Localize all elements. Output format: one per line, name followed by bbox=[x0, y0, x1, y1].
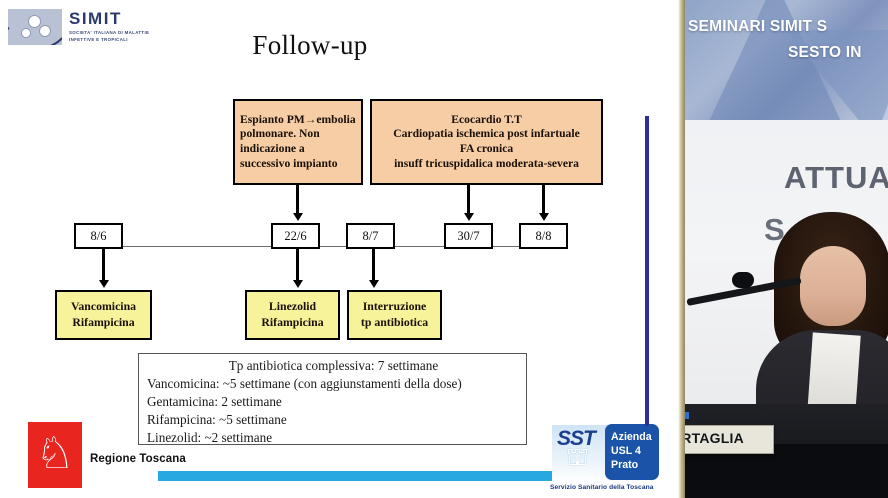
orange-box-ecocardio-line4: insuff tricuspidalica moderata-severa bbox=[377, 157, 596, 172]
summary-line-1: Vancomicina: ~5 settimane (con aggiunsta… bbox=[147, 375, 520, 393]
orange-box-espianto: Espianto PM→embolia polmonare. Non indic… bbox=[233, 99, 363, 185]
summary-line-2: Gentamicina: 2 settimane bbox=[147, 393, 520, 411]
timeline-axis bbox=[74, 246, 568, 247]
orange-box-ecocardio: Ecocardio T.T Cardiopatia ischemica post… bbox=[370, 99, 603, 185]
regione-toscana-label: Regione Toscana bbox=[90, 453, 186, 465]
azienda-usl-line2: USL 4 bbox=[611, 444, 659, 458]
summary-line-4: Linezolid: ~2 settimane bbox=[147, 429, 520, 447]
arrowhead-ecocardio-to-88 bbox=[539, 213, 549, 221]
arrowhead-espianto-to-226 bbox=[293, 213, 303, 221]
yellow-box-linezolid-line1: Linezolid bbox=[247, 299, 338, 315]
summary-heading: Tp antibiotica complessiva: 7 settimane bbox=[147, 357, 520, 375]
timeline-date-8-6: 8/6 bbox=[74, 223, 123, 249]
pegasus-icon: ♘ bbox=[35, 429, 75, 481]
yellow-box-interruzione-line1: Interruzione bbox=[349, 299, 440, 315]
yellow-box-vancomicina-line2: Rifampicina bbox=[57, 315, 150, 331]
yellow-box-vancomicina-line1: Vancomicina bbox=[57, 299, 150, 315]
azienda-usl-line3: Prato bbox=[611, 458, 659, 472]
connector-espianto-to-226 bbox=[296, 185, 299, 214]
azienda-usl-logo: Azienda USL 4 Prato bbox=[605, 424, 659, 480]
connector-86-to-vancomicina bbox=[102, 249, 105, 281]
conference-banner-line1: SEMINARI SIMIT S bbox=[688, 18, 827, 36]
arrowhead-87-to-interruzione bbox=[369, 280, 379, 288]
azienda-usl-line1: Azienda bbox=[611, 430, 659, 444]
speaker-face bbox=[800, 246, 866, 326]
screenshot-root: SIMIT SOCIETA' ITALIANA DI MALATTIE INFE… bbox=[0, 0, 888, 498]
conference-banner-line2: SESTO IN bbox=[788, 44, 862, 62]
timeline-date-8-8: 8/8 bbox=[519, 223, 568, 249]
arrowhead-86-to-vancomicina bbox=[99, 280, 109, 288]
wall-text-line1: ATTUA bbox=[784, 160, 888, 196]
footer-accent-bar bbox=[158, 471, 558, 481]
speaker-nameplate-text: ARTAGLIA bbox=[678, 430, 744, 446]
sst-logo-subtitle: Servizio Sanitario della Toscana bbox=[550, 484, 653, 491]
yellow-box-linezolid: Linezolid Rifampicina bbox=[245, 290, 340, 340]
connector-87-to-interruzione bbox=[372, 249, 375, 281]
yellow-box-interruzione: Interruzione tp antibiotica bbox=[347, 290, 442, 340]
slide-vertical-rule bbox=[645, 116, 649, 426]
connector-226-to-linezolid bbox=[296, 249, 299, 281]
speaker-nameplate: ARTAGLIA bbox=[678, 425, 774, 454]
yellow-box-vancomicina: Vancomicina Rifampicina bbox=[55, 290, 152, 340]
sst-running-figure-icon: ⛫ bbox=[566, 444, 600, 470]
yellow-box-linezolid-line2: Rifampicina bbox=[247, 315, 338, 331]
orange-box-ecocardio-line2: Cardiopatia ischemica post infartuale bbox=[377, 127, 596, 142]
connector-ecocardio-to-307 bbox=[467, 185, 470, 214]
timeline-date-8-7: 8/7 bbox=[346, 223, 395, 249]
orange-box-ecocardio-line3: FA cronica bbox=[377, 142, 596, 157]
summary-box: Tp antibiotica complessiva: 7 settimane … bbox=[138, 353, 527, 445]
arrowhead-ecocardio-to-307 bbox=[464, 213, 474, 221]
simit-logo-name: SIMIT bbox=[69, 10, 149, 27]
orange-box-espianto-text: Espianto PM→embolia polmonare. Non indic… bbox=[235, 113, 361, 172]
slide-title: Follow-up bbox=[0, 30, 620, 61]
microphone-icon bbox=[732, 272, 754, 288]
orange-box-ecocardio-line1: Ecocardio T.T bbox=[377, 113, 596, 128]
presentation-slide: SIMIT SOCIETA' ITALIANA DI MALATTIE INFE… bbox=[0, 0, 678, 498]
connector-ecocardio-to-88 bbox=[542, 185, 545, 214]
summary-line-3: Rifampicina: ~5 settimane bbox=[147, 411, 520, 429]
yellow-box-interruzione-line2: tp antibiotica bbox=[349, 315, 440, 331]
video-left-edge bbox=[678, 0, 685, 498]
speaker-video-panel[interactable]: SEMINARI SIMIT S SESTO IN ATTUA S ARTAGL… bbox=[678, 0, 888, 498]
timeline-date-22-6: 22/6 bbox=[271, 223, 320, 249]
arrowhead-226-to-linezolid bbox=[293, 280, 303, 288]
regione-toscana-logo: ♘ bbox=[28, 422, 82, 488]
timeline-date-30-7: 30/7 bbox=[444, 223, 493, 249]
